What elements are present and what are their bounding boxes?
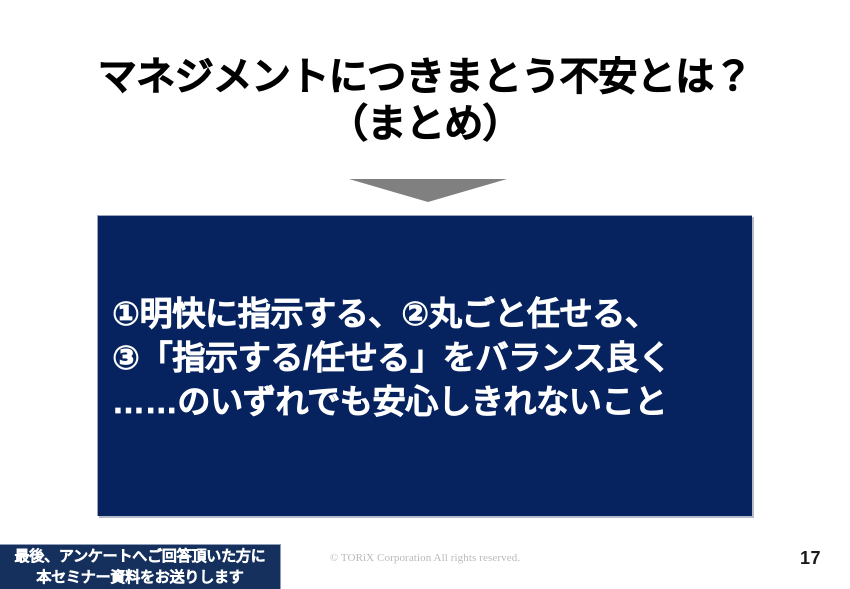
message-box-text: ①明快に指示する、②丸ごと任せる、 ③「指示する/任せる」をバランス良く ……の… [112,292,740,424]
page-number: 17 [800,548,821,569]
slide-title: マネジメントにつきまとう不安とは？ （まとめ） [0,54,850,148]
message-box: ①明快に指示する、②丸ごと任せる、 ③「指示する/任せる」をバランス良く ……の… [97,215,752,516]
slide-canvas: マネジメントにつきまとう不安とは？ （まとめ） ①明快に指示する、②丸ごと任せる… [0,0,850,589]
down-triangle-icon [349,179,507,202]
copyright-text: © TORiX Corporation All rights reserved. [0,552,850,564]
footer-banner: 最後、アンケートへご回答頂いた方に 本セミナー資料をお送りします [0,544,281,589]
